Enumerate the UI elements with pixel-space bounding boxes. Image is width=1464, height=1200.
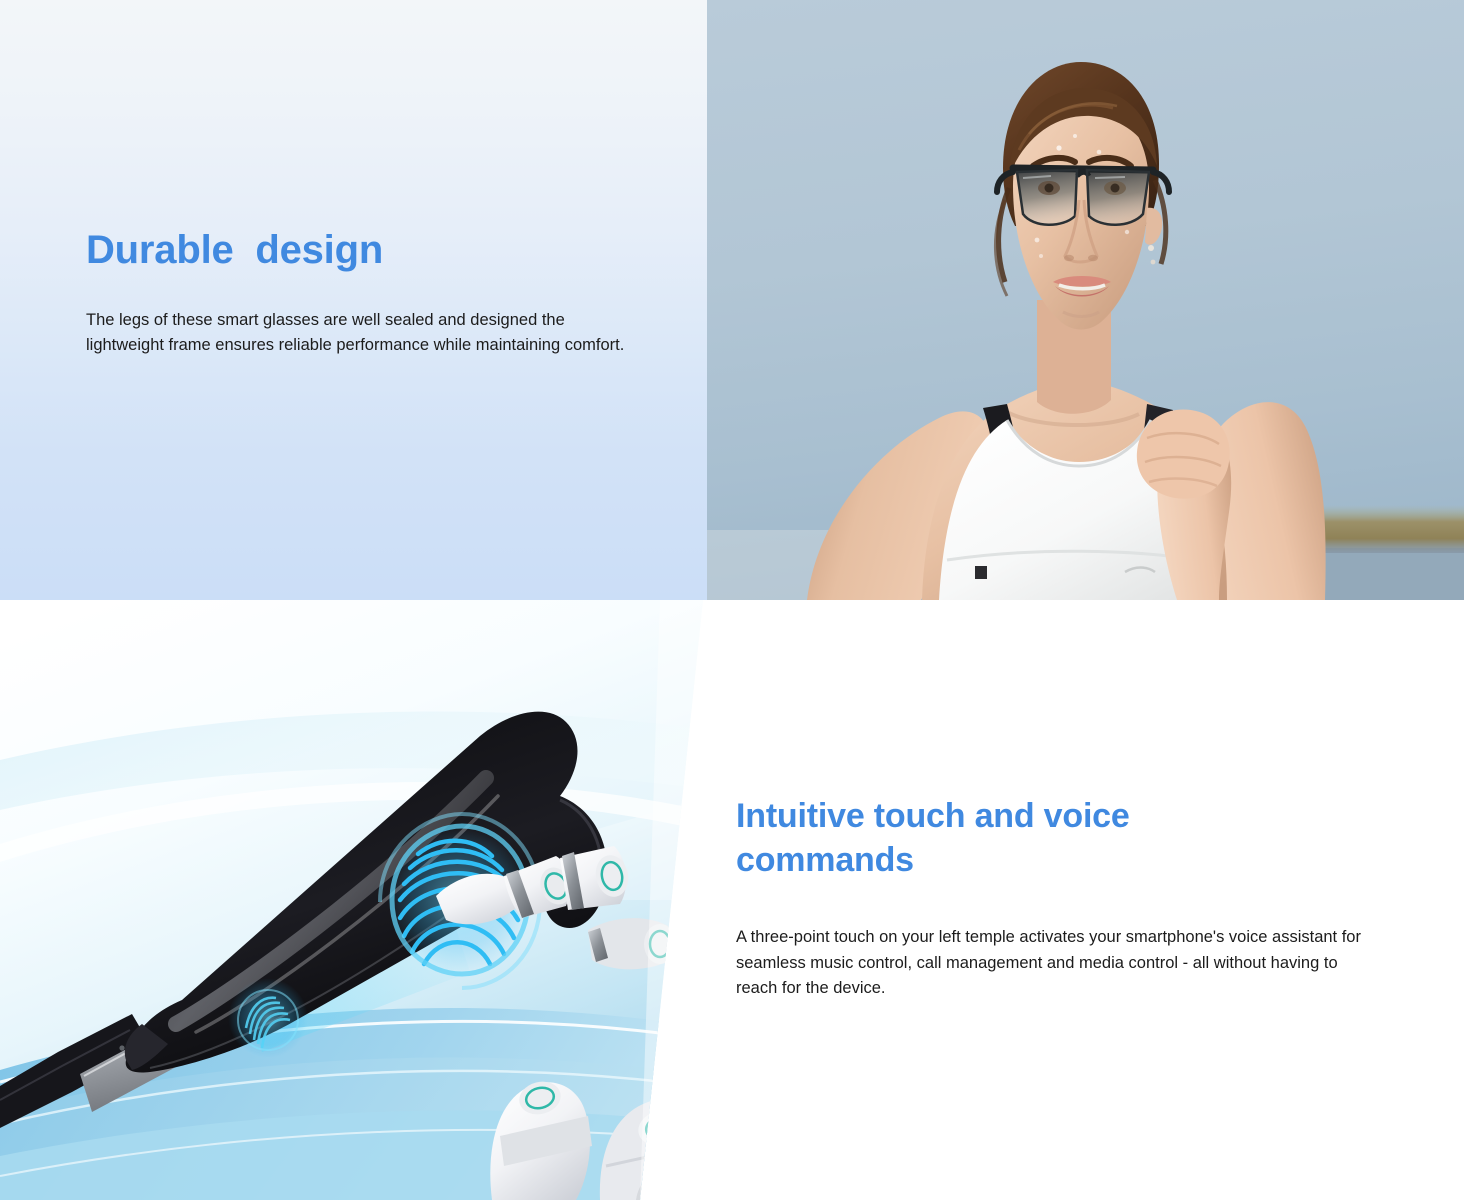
runner-photo-illustration [707,0,1464,600]
durable-design-body: The legs of these smart glasses are well… [86,308,646,358]
intuitive-commands-panel: Intuitive touch and voice commands A thr… [736,600,1436,1200]
touch-sensor-pad [228,978,308,1058]
intuitive-commands-heading: Intuitive touch and voice commands [736,794,1296,882]
intuitive-commands-body: A three-point touch on your left temple … [736,925,1361,1002]
top-row: Durable design The legs of these smart g… [0,0,1464,600]
product-photo [0,600,710,1200]
runner-photo [707,0,1464,600]
durable-design-heading: Durable design [86,228,383,273]
product-feature-page: Durable design The legs of these smart g… [0,0,1464,1200]
durable-design-panel: Durable design The legs of these smart g… [0,0,707,600]
product-photo-illustration [0,600,710,1200]
bottom-row: Intuitive touch and voice commands A thr… [0,600,1464,1200]
